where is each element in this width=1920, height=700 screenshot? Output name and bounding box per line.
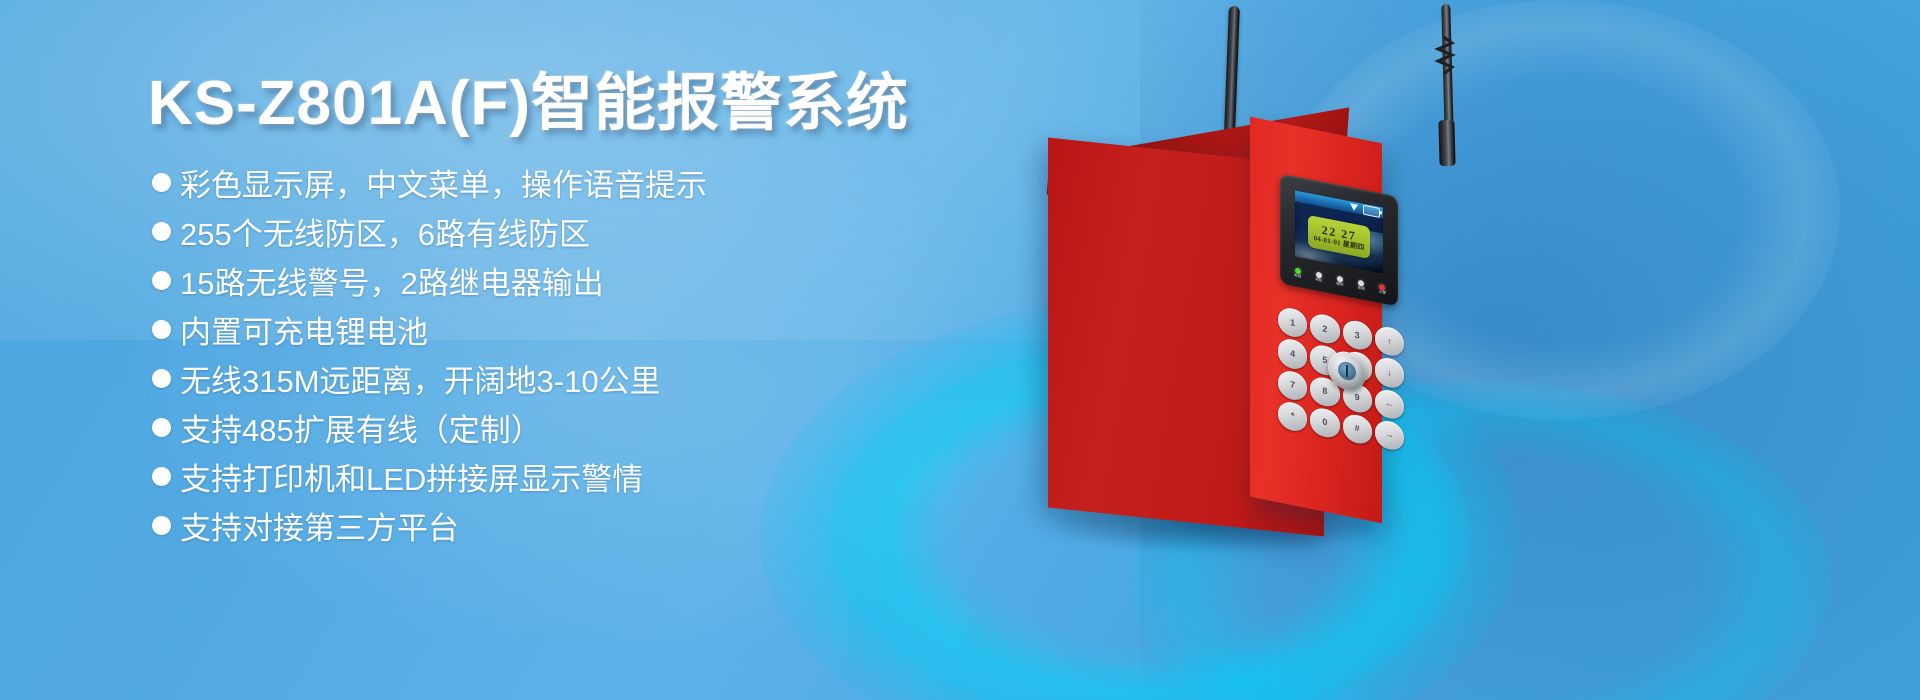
feature-item: 支持485扩展有线（定制） <box>152 403 707 452</box>
feature-text: 255个无线防区，6路有线防区 <box>180 209 590 254</box>
key-button[interactable]: 4 <box>1278 337 1307 371</box>
signal-icon <box>1350 203 1358 212</box>
led-label: 撤防 <box>1336 283 1343 288</box>
feature-item: 255个无线防区，6路有线防区 <box>152 207 707 256</box>
bullet-icon <box>152 516 171 535</box>
feature-item: 内置可充电锂电池 <box>152 305 707 354</box>
bullet-icon <box>152 369 171 388</box>
text-content-column: KS-Z801A(F)智能报警系统 彩色显示屏，中文菜单，操作语音提示 255个… <box>0 0 1000 700</box>
feature-item: 支持对接第三方平台 <box>152 501 707 550</box>
coil-svg <box>1432 36 1458 76</box>
feature-text: 支持485扩展有线（定制） <box>180 405 542 450</box>
led-indicator: 故障 <box>1358 280 1365 292</box>
bullet-icon <box>152 467 171 486</box>
product-banner: KS-Z801A(F)智能报警系统 彩色显示屏，中文菜单，操作语音提示 255个… <box>0 0 1920 700</box>
key-button[interactable]: ↓ <box>1375 356 1404 390</box>
led-label: 电源 <box>1294 275 1301 280</box>
antenna-right-base <box>1438 120 1455 166</box>
led-label: 故障 <box>1358 287 1365 292</box>
product-title: KS-Z801A(F)智能报警系统 <box>148 52 909 142</box>
feature-item: 彩色显示屏，中文菜单，操作语音提示 <box>152 158 707 207</box>
feature-text: 无线315M远距离，开阔地3-10公里 <box>180 356 661 401</box>
key-button[interactable]: 0 <box>1310 406 1339 440</box>
lcd-screen[interactable]: 22 27 04-01-01 星期四 <box>1295 190 1383 273</box>
feature-text: 支持打印机和LED拼接屏显示警情 <box>180 454 643 499</box>
led-indicator: 布防 <box>1315 272 1322 284</box>
key-lock-core <box>1338 360 1356 381</box>
feature-text: 15路无线警号，2路继电器输出 <box>180 258 604 303</box>
led-indicator: 火警 <box>1379 284 1386 296</box>
key-button[interactable]: → <box>1375 418 1404 452</box>
feature-item: 15路无线警号，2路继电器输出 <box>152 256 707 305</box>
key-button[interactable]: 2 <box>1310 312 1339 346</box>
lcd-status-bar <box>1295 190 1383 218</box>
feature-text: 内置可充电锂电池 <box>180 307 428 352</box>
key-button[interactable]: 1 <box>1278 306 1307 340</box>
bullet-icon <box>152 222 171 241</box>
feature-text: 支持对接第三方平台 <box>180 503 459 548</box>
bullet-icon <box>152 320 171 339</box>
feature-item: 支持打印机和LED拼接屏显示警情 <box>152 452 707 501</box>
antenna-coil-icon <box>1432 36 1458 76</box>
key-button[interactable]: 7 <box>1278 368 1307 402</box>
bullet-icon <box>152 271 171 290</box>
alarm-panel-product-image: 22 27 04-01-01 星期四 电源 布防 撤防 <box>950 0 1920 700</box>
key-button[interactable]: ↑ <box>1375 325 1404 359</box>
led-label: 火警 <box>1379 291 1386 296</box>
key-button[interactable]: ← <box>1375 387 1404 421</box>
bullet-icon <box>152 418 171 437</box>
led-indicator: 电源 <box>1294 268 1301 280</box>
feature-item: 无线315M远距离，开阔地3-10公里 <box>152 354 707 403</box>
key-button[interactable]: # <box>1343 412 1372 446</box>
led-label: 布防 <box>1315 279 1322 284</box>
bullet-icon <box>152 173 171 192</box>
led-indicator: 撤防 <box>1336 276 1343 288</box>
key-button[interactable]: 3 <box>1343 318 1372 352</box>
feature-text: 彩色显示屏，中文菜单，操作语音提示 <box>180 160 707 205</box>
feature-list: 彩色显示屏，中文菜单，操作语音提示 255个无线防区，6路有线防区 15路无线警… <box>152 158 707 550</box>
battery-icon <box>1363 204 1380 217</box>
key-button[interactable]: * <box>1278 400 1307 434</box>
display-bezel: 22 27 04-01-01 星期四 电源 布防 撤防 <box>1280 174 1398 307</box>
